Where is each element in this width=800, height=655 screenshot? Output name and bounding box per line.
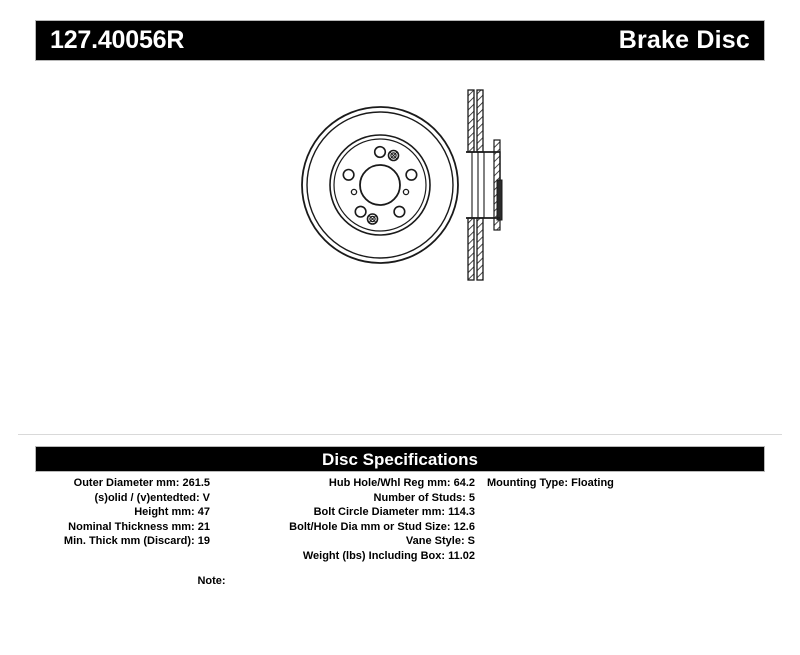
disc-specifications-title: Disc Specifications <box>322 451 478 468</box>
spec-row: Number of Studs: 5 <box>222 491 475 506</box>
section-hat-edge <box>494 140 502 230</box>
hub-bore-circle <box>360 165 400 205</box>
specifications-table: Outer Diameter mm: 261.5 (s)olid / (v)en… <box>0 476 800 586</box>
spec-row: Weight (lbs) Including Box: 11.02 <box>222 549 475 564</box>
spec-column-middle: Hub Hole/Whl Reg mm: 64.2 Number of Stud… <box>222 476 475 564</box>
spec-sheet-page: 127.40056R Brake Disc <box>0 0 800 655</box>
part-number: 127.40056R <box>50 28 184 53</box>
spec-row: Bolt/Hole Dia mm or Stud Size: 12.6 <box>222 520 475 535</box>
spec-row: (s)olid / (v)entedted: V <box>10 491 210 506</box>
stud-hole <box>375 147 386 158</box>
spec-column-left: Outer Diameter mm: 261.5 (s)olid / (v)en… <box>10 476 210 549</box>
spec-row: Height mm: 47 <box>10 505 210 520</box>
product-title: Brake Disc <box>619 28 750 53</box>
rotor-face-view <box>302 107 458 263</box>
section-lower-friction-ring <box>468 218 483 280</box>
threaded-hole <box>368 214 378 224</box>
section-upper-friction-ring <box>468 90 483 152</box>
note-label: Note: <box>197 574 225 588</box>
spec-row: Mounting Type: Floating <box>487 476 777 491</box>
note-area: Note: <box>10 571 230 589</box>
spec-row: Nominal Thickness mm: 21 <box>10 520 210 535</box>
spec-row: Vane Style: S <box>222 534 475 549</box>
stud-hole <box>406 170 417 181</box>
disc-specifications-bar: Disc Specifications <box>35 446 765 472</box>
locating-hole <box>403 189 408 194</box>
rotor-section-view <box>466 90 502 280</box>
spec-column-right: Mounting Type: Floating <box>487 476 777 491</box>
stud-hole <box>355 206 366 217</box>
header-bar: 127.40056R Brake Disc <box>35 20 765 61</box>
locating-hole <box>351 189 356 194</box>
spec-row: Hub Hole/Whl Reg mm: 64.2 <box>222 476 475 491</box>
technical-drawing <box>250 80 550 310</box>
stud-hole <box>394 206 405 217</box>
section-divider <box>18 434 782 435</box>
stud-hole <box>343 170 354 181</box>
spec-row: Min. Thick mm (Discard): 19 <box>10 534 210 549</box>
threaded-hole <box>389 151 399 161</box>
spec-row: Bolt Circle Diameter mm: 114.3 <box>222 505 475 520</box>
spec-row: Outer Diameter mm: 261.5 <box>10 476 210 491</box>
